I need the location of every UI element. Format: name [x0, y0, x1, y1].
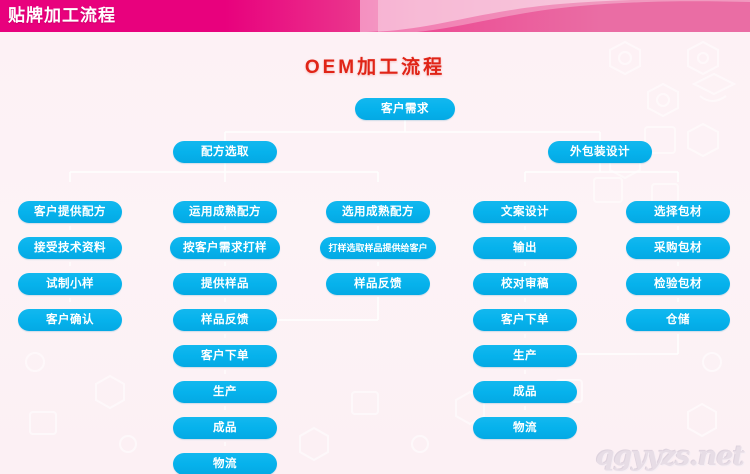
site-watermark: qgyyzs.net [596, 441, 744, 472]
flow-node-root[interactable]: 客户需求 [355, 98, 455, 120]
flow-node-c2-5[interactable]: 生产 [173, 381, 277, 403]
flow-node-c4-5[interactable]: 成品 [473, 381, 577, 403]
page-title: 贴牌加工流程 [8, 4, 116, 28]
flow-node-c5-1[interactable]: 采购包材 [626, 237, 730, 259]
flow-node-c4-1[interactable]: 输出 [473, 237, 577, 259]
flow-node-c5-3[interactable]: 仓储 [626, 309, 730, 331]
flow-node-c2-1[interactable]: 按客户需求打样 [170, 237, 280, 259]
flowchart-canvas: OEM加工流程 [0, 32, 750, 474]
flow-node-c2-4[interactable]: 客户下单 [173, 345, 277, 367]
flow-node-c1-0[interactable]: 客户提供配方 [18, 201, 122, 223]
flow-node-c5-2[interactable]: 检验包材 [626, 273, 730, 295]
flow-node-c2-3[interactable]: 样品反馈 [173, 309, 277, 331]
flow-node-c4-4[interactable]: 生产 [473, 345, 577, 367]
flow-node-branch-right[interactable]: 外包装设计 [548, 141, 652, 163]
flow-node-c1-1[interactable]: 接受技术资料 [18, 237, 122, 259]
flow-node-c2-6[interactable]: 成品 [173, 417, 277, 439]
flow-node-c1-3[interactable]: 客户确认 [18, 309, 122, 331]
flow-node-c3-1[interactable]: 打样选取样品提供给客户 [320, 237, 436, 259]
flow-node-c4-0[interactable]: 文案设计 [473, 201, 577, 223]
flow-node-c2-0[interactable]: 运用成熟配方 [173, 201, 277, 223]
flow-node-c3-0[interactable]: 选用成熟配方 [326, 201, 430, 223]
flow-node-c4-3[interactable]: 客户下单 [473, 309, 577, 331]
page-header: 贴牌加工流程 [0, 0, 750, 32]
flow-node-c2-7[interactable]: 物流 [173, 453, 277, 474]
flow-node-c3-2[interactable]: 样品反馈 [326, 273, 430, 295]
flow-node-c5-0[interactable]: 选择包材 [626, 201, 730, 223]
flow-node-branch-left[interactable]: 配方选取 [173, 141, 277, 163]
flow-node-c4-6[interactable]: 物流 [473, 417, 577, 439]
flow-node-c2-2[interactable]: 提供样品 [173, 273, 277, 295]
flowchart-page: 贴牌加工流程 [0, 0, 750, 474]
flow-node-c4-2[interactable]: 校对审稿 [473, 273, 577, 295]
flow-node-c1-2[interactable]: 试制小样 [18, 273, 122, 295]
